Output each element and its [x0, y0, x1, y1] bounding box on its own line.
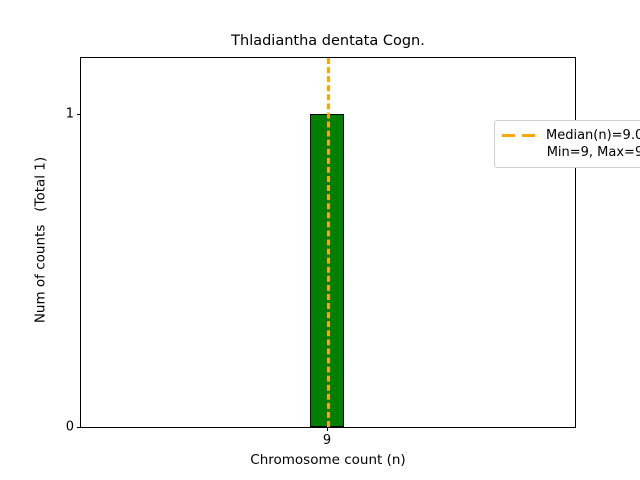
ytick-label-1: 1: [66, 108, 74, 121]
x-axis-label: Chromosome count (n): [80, 452, 576, 468]
xtick-mark-9: [327, 427, 328, 431]
ytick-mark-1: [77, 114, 81, 115]
dashed-line-icon: [501, 127, 539, 144]
legend-median-label: Median(n)=9.0: [546, 128, 640, 143]
y-axis-label: Num of counts (Total 1): [33, 55, 49, 426]
chart-figure: Thladiantha dentata Cogn. 0 1 9 Median(n…: [0, 0, 640, 480]
chart-title: Thladiantha dentata Cogn.: [80, 32, 576, 50]
plot-axes: 0 1 9 Median(n)=9.0 Min=9, Max=9: [80, 57, 576, 428]
ytick-label-0: 0: [66, 421, 74, 434]
legend-minmax-label: Min=9, Max=9: [546, 144, 640, 161]
legend-entry-text: Median(n)=9.0 Min=9, Max=9: [546, 127, 640, 161]
legend-entry-median: Median(n)=9.0 Min=9, Max=9: [501, 127, 640, 161]
chart-legend[interactable]: Median(n)=9.0 Min=9, Max=9: [494, 120, 640, 168]
median-line: [327, 58, 330, 427]
ytick-mark-0: [77, 427, 81, 428]
xtick-label-9: 9: [323, 434, 331, 448]
plot-area: [81, 58, 575, 427]
